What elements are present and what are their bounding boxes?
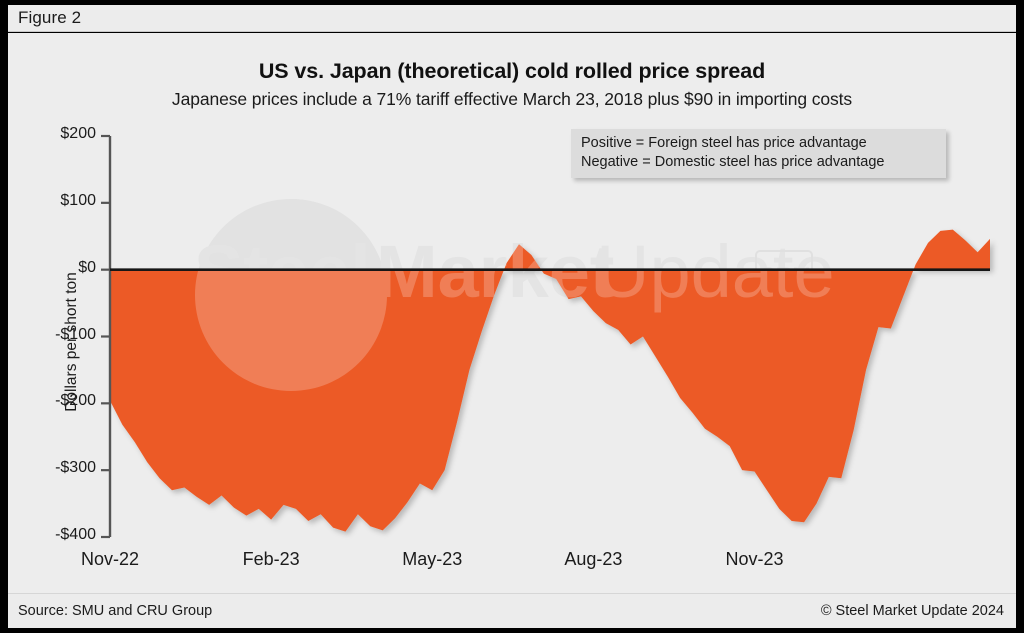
x-tick-label: Nov-22 bbox=[45, 549, 175, 570]
y-tick-label: $100 bbox=[22, 192, 96, 210]
annotation-note-box: Positive = Foreign steel has price advan… bbox=[571, 129, 946, 178]
figure-label: Figure 2 bbox=[18, 8, 81, 28]
x-tick-label: Aug-23 bbox=[528, 549, 658, 570]
y-tick-label: $0 bbox=[22, 259, 96, 277]
y-tick-marks bbox=[101, 136, 110, 537]
x-tick-label: May-23 bbox=[367, 549, 497, 570]
chart-card: US vs. Japan (theoretical) cold rolled p… bbox=[8, 33, 1016, 593]
x-tick-label: Nov-23 bbox=[690, 549, 820, 570]
y-tick-label: -$300 bbox=[22, 459, 96, 477]
figure-page: Figure 2 US vs. Japan (theoretical) cold… bbox=[0, 0, 1024, 633]
figure-caption-bar: Figure 2 bbox=[8, 5, 1016, 32]
x-tick-label: Feb-23 bbox=[206, 549, 336, 570]
note-line-positive: Positive = Foreign steel has price advan… bbox=[581, 134, 938, 153]
y-tick-label: -$400 bbox=[22, 526, 96, 544]
footer-source: Source: SMU and CRU Group bbox=[18, 603, 212, 619]
y-tick-label: -$200 bbox=[22, 392, 96, 410]
figure-footer-bar: Source: SMU and CRU Group © Steel Market… bbox=[8, 593, 1016, 628]
y-tick-label: $200 bbox=[22, 125, 96, 143]
chart-svg: Steel Market Update CRU Steel bbox=[8, 33, 1016, 593]
footer-copyright: © Steel Market Update 2024 bbox=[821, 603, 1004, 619]
y-tick-label: -$100 bbox=[22, 326, 96, 344]
note-line-negative: Negative = Domestic steel has price adva… bbox=[581, 153, 938, 172]
plot-area: Steel Market Update CRU Steel bbox=[8, 33, 1016, 593]
